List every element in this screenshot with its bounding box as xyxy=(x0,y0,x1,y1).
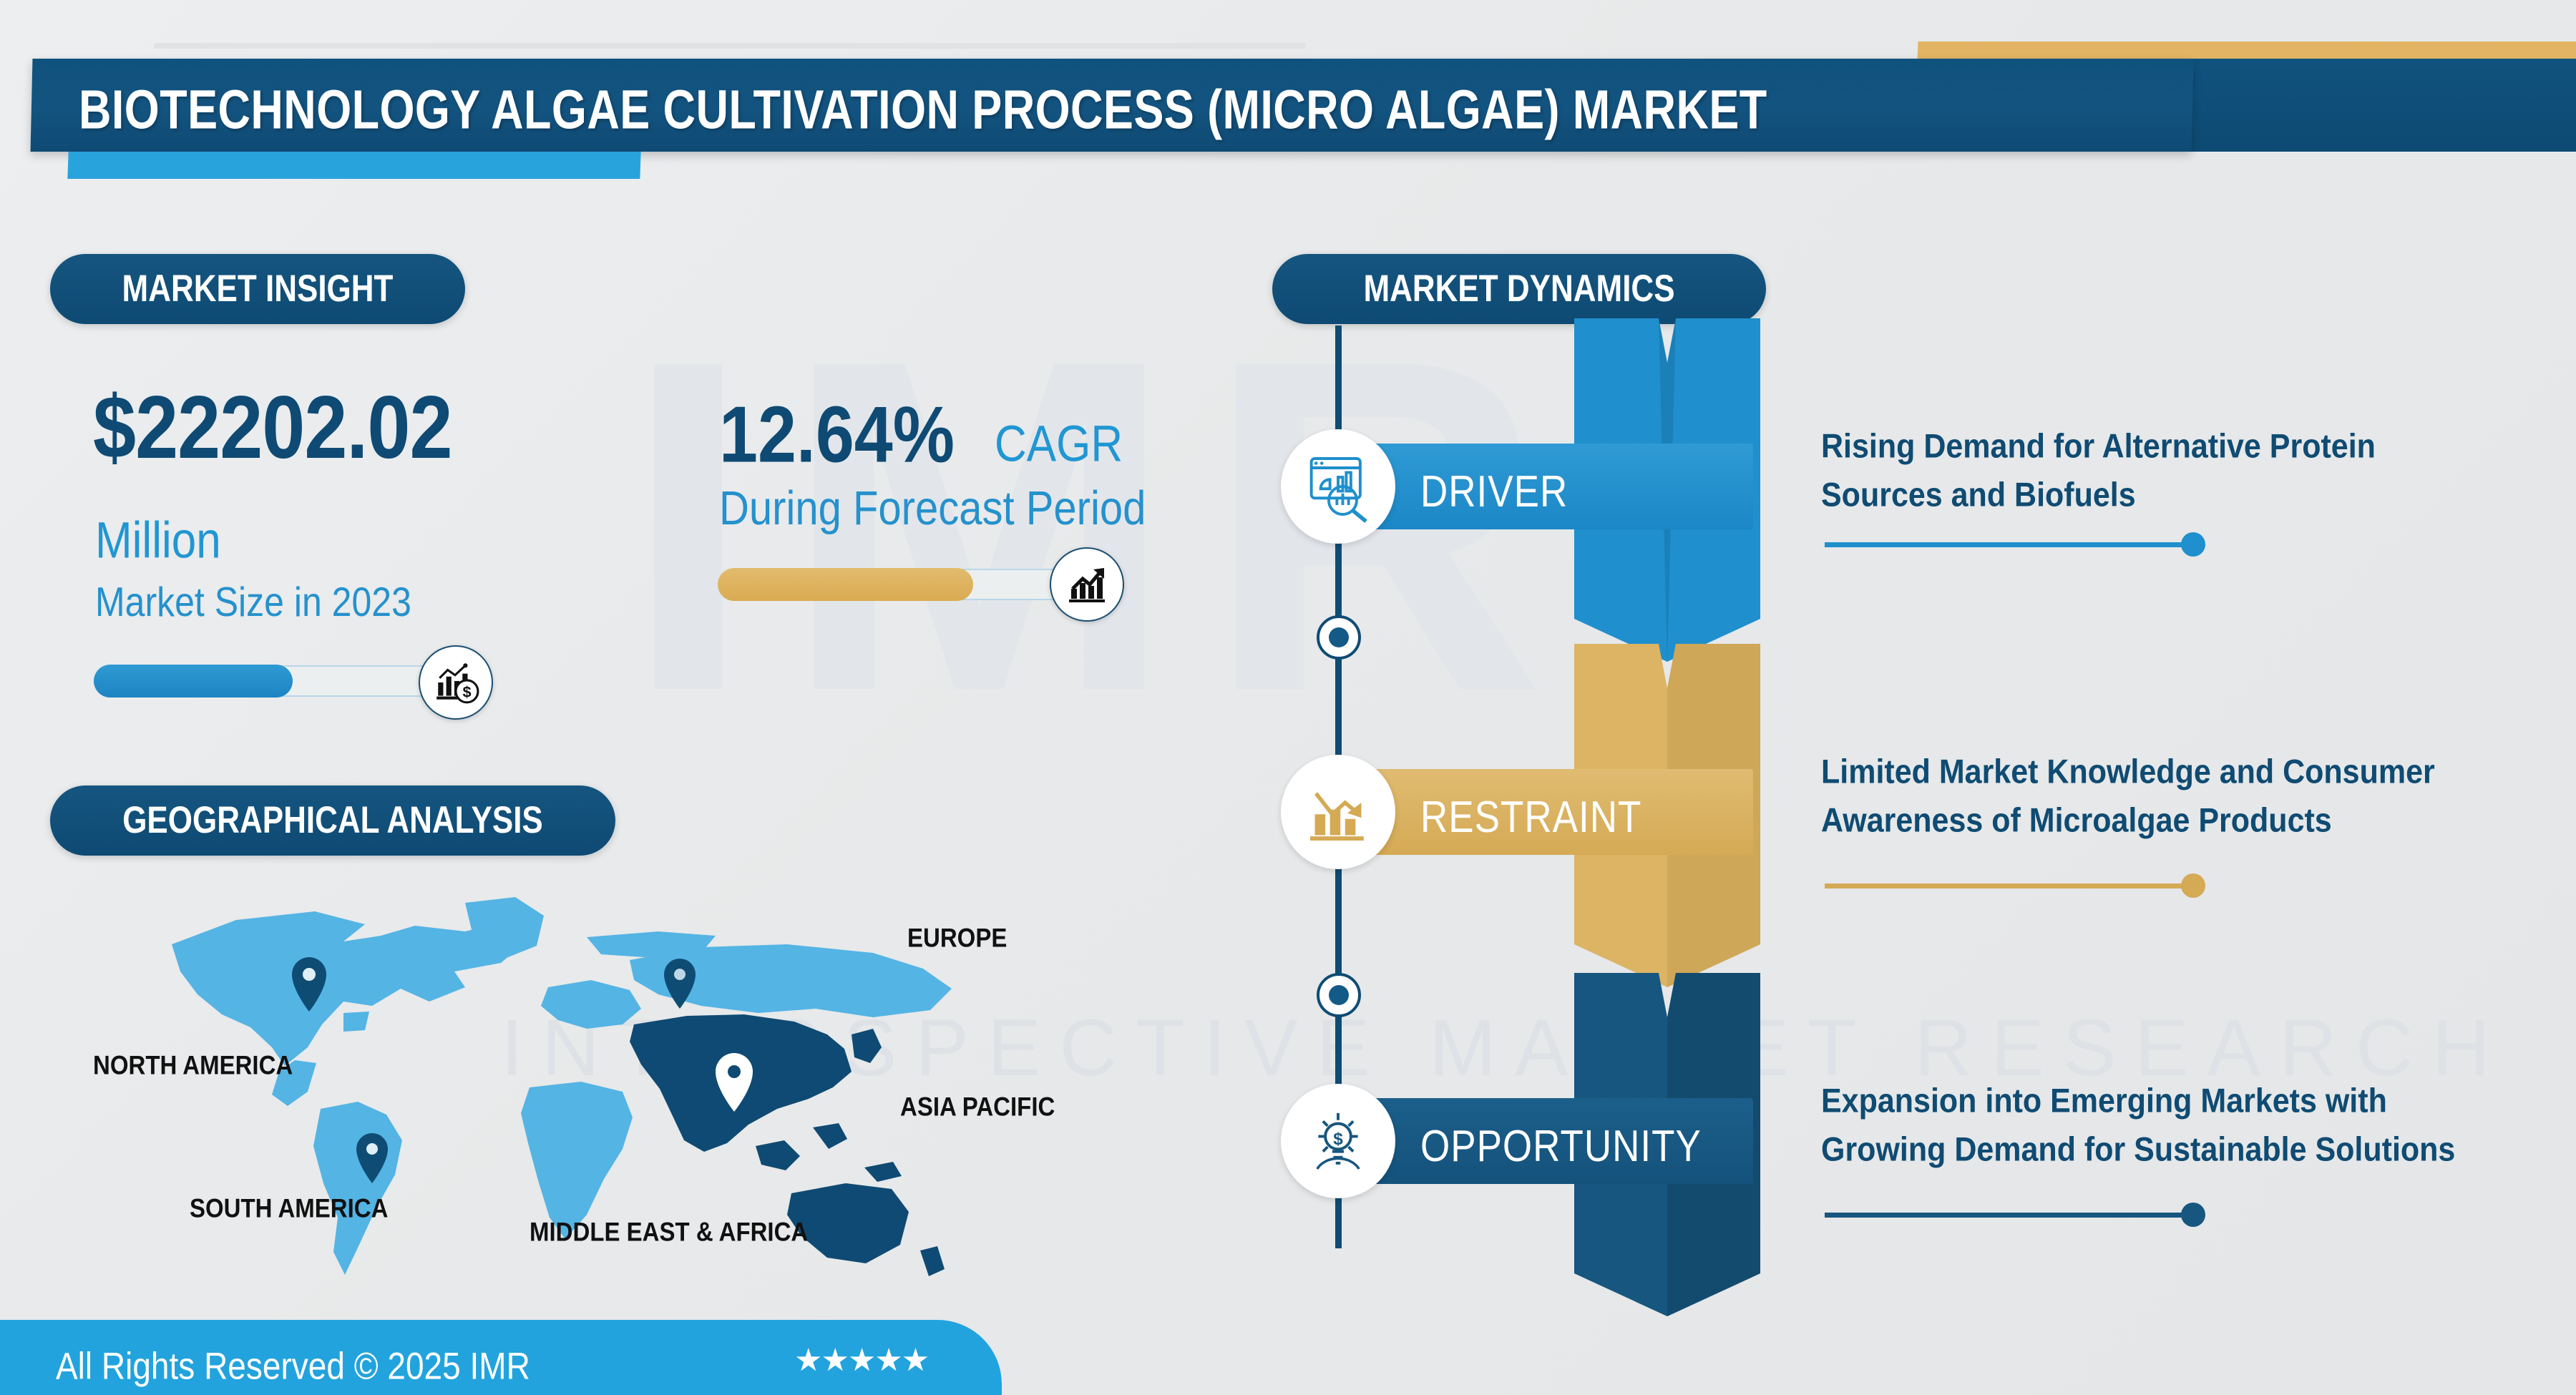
restraint-underline-dot xyxy=(2181,873,2205,898)
region-label-asia-pacific: ASIA PACIFIC xyxy=(900,1092,1055,1122)
market-dynamics-heading: MARKET DYNAMICS xyxy=(1272,254,1766,324)
lightbulb-dollar-icon: $ xyxy=(1281,1084,1395,1198)
driver-label: DRIVER xyxy=(1420,466,1568,517)
timeline-node-2 xyxy=(1317,973,1361,1017)
restraint-underline xyxy=(1825,883,2190,889)
market-size-progress-fill xyxy=(94,665,293,697)
infographic-canvas: IMR INTROSPECTIVE MARKET RESEARCH BIOTEC… xyxy=(0,0,2576,1395)
driver-underline xyxy=(1825,542,2190,547)
restraint-label: RESTRAINT xyxy=(1420,792,1641,843)
market-dynamics-heading-label: MARKET DYNAMICS xyxy=(1363,268,1674,310)
timeline-node-1 xyxy=(1317,615,1361,660)
market-research-magnifier-icon xyxy=(1281,429,1395,544)
opportunity-description: Expansion into Emerging Markets with Gro… xyxy=(1821,1077,2487,1175)
market-size-subtitle: Market Size in 2023 xyxy=(95,578,411,626)
footer-star-rating: ★★★★★ xyxy=(794,1342,928,1379)
bar-chart-dollar-icon: $ xyxy=(419,645,493,720)
header-cyan-accent xyxy=(67,152,640,179)
growth-arrow-chart-icon xyxy=(1050,547,1124,622)
cagr-progress-fill xyxy=(718,568,973,601)
region-label-europe: EUROPE xyxy=(907,923,1007,954)
market-insight-heading-label: MARKET INSIGHT xyxy=(122,268,394,310)
region-label-middle-east-africa: MIDDLE EAST & AFRICA xyxy=(530,1217,808,1248)
cagr-value: 12.64% xyxy=(719,388,955,481)
svg-text:$: $ xyxy=(462,683,471,701)
dynamics-row-driver: DRIVER Rising Demand for Alternative Pro… xyxy=(1281,386,2569,601)
geographical-analysis-heading: GEOGRAPHICAL ANALYSIS xyxy=(50,785,615,856)
opportunity-underline-dot xyxy=(2181,1203,2205,1227)
region-label-north-america: NORTH AMERICA xyxy=(93,1050,293,1081)
market-size-value: $22202.02 xyxy=(93,376,452,479)
cagr-subtitle: During Forecast Period xyxy=(719,481,1146,536)
market-insight-heading: MARKET INSIGHT xyxy=(50,254,465,324)
dynamics-row-restraint: RESTRAINT Limited Market Knowledge and C… xyxy=(1281,712,2569,926)
opportunity-label: OPPORTUNITY xyxy=(1420,1121,1702,1172)
svg-text:$: $ xyxy=(1333,1130,1343,1149)
driver-description: Rising Demand for Alternative Protein So… xyxy=(1821,422,2487,520)
geographical-analysis-heading-label: GEOGRAPHICAL ANALYSIS xyxy=(122,799,543,842)
dynamics-row-opportunity: $ OPPORTUNITY Expansion into Emerging Ma… xyxy=(1281,1041,2569,1255)
declining-chart-icon xyxy=(1281,755,1395,869)
region-label-south-america: SOUTH AMERICA xyxy=(190,1193,388,1224)
restraint-description: Limited Market Knowledge and Consumer Aw… xyxy=(1821,748,2487,846)
market-size-unit: Million xyxy=(95,511,221,570)
cagr-label: CAGR xyxy=(995,415,1123,474)
opportunity-underline xyxy=(1825,1213,2190,1218)
footer-copyright: All Rights Reserved © 2025 IMR xyxy=(56,1343,530,1388)
header-thin-rule xyxy=(154,43,1306,49)
page-title: BIOTECHNOLOGY ALGAE CULTIVATION PROCESS … xyxy=(79,79,2154,142)
driver-underline-dot xyxy=(2181,532,2205,557)
